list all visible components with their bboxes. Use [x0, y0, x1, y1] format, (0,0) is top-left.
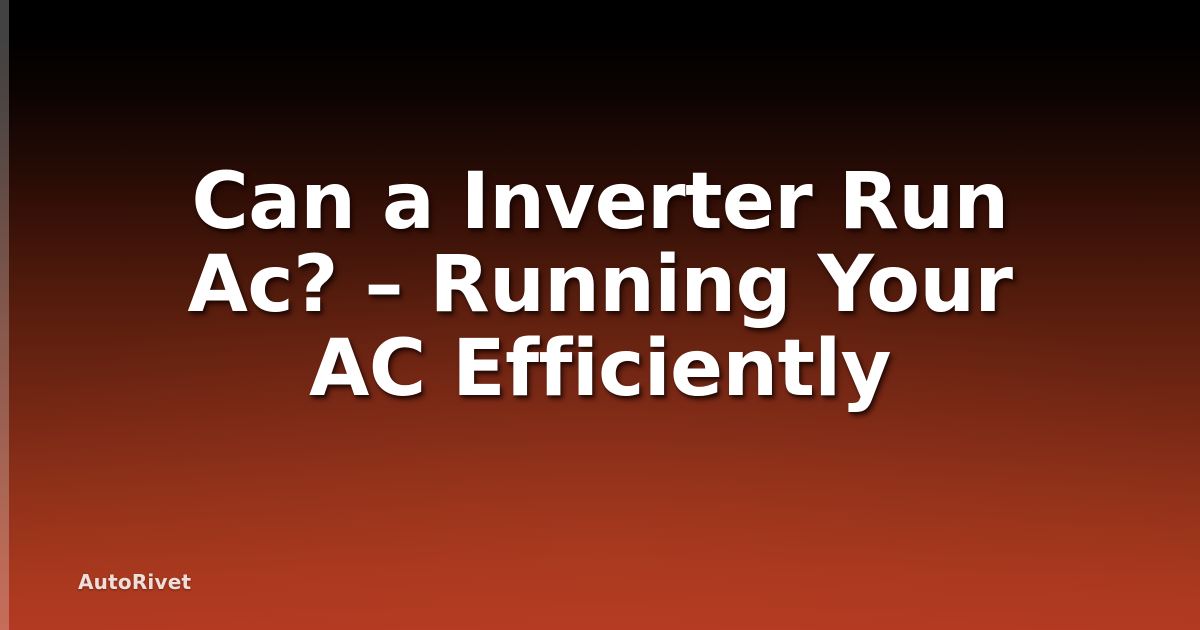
brand-name: AutoRivet	[78, 572, 191, 592]
brand-logo[interactable]: AutoRivet	[78, 572, 191, 592]
og-card: Can a Inverter Run Ac? – Running Your AC…	[0, 0, 1200, 630]
page-title-line-2: Ac? – Running Your	[188, 244, 1013, 327]
page-title-line-1: Can a Inverter Run	[188, 161, 1013, 244]
page-title: Can a Inverter Run Ac? – Running Your AC…	[188, 161, 1013, 411]
title-block: Can a Inverter Run Ac? – Running Your AC…	[0, 0, 1200, 630]
page-title-line-3: AC Efficiently	[188, 328, 1013, 411]
